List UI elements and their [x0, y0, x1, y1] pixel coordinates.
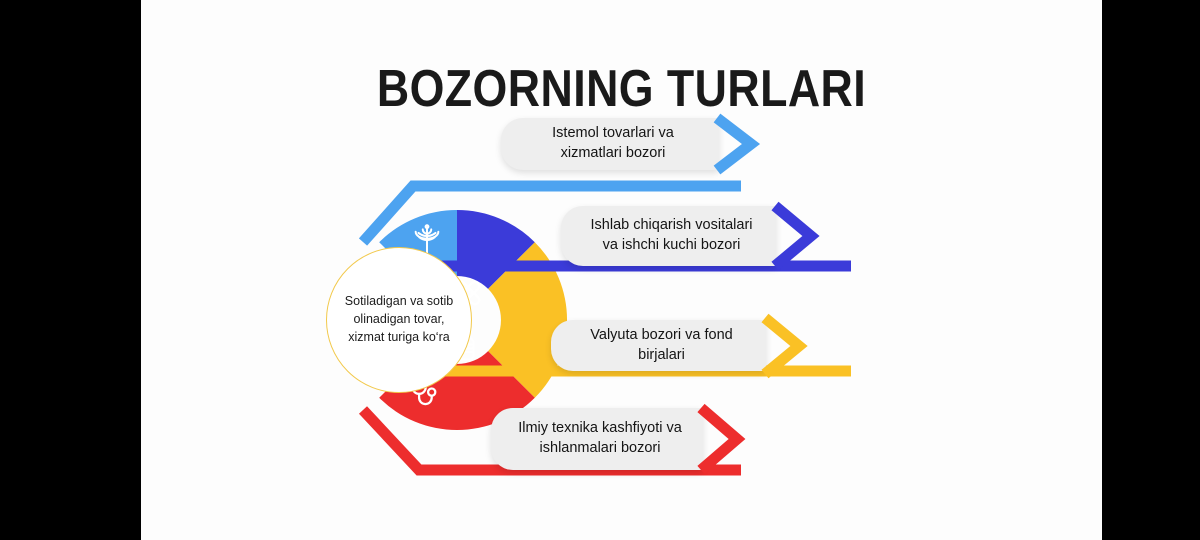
- chevron-icon-1: [711, 112, 771, 176]
- letterbox-bar-left: [0, 0, 141, 540]
- callout-label-1: Istemol tovarlari va xizmatlari bozori: [501, 124, 719, 163]
- slide-area: BOZORNING TURLARI Istemol tovarlari va x…: [141, 0, 1102, 540]
- slide-canvas: BOZORNING TURLARI Istemol tovarlari va x…: [0, 0, 1200, 540]
- callout-label-box-4[interactable]: Ilmiy texnika kashfiyoti va ishlanmalari…: [491, 408, 703, 470]
- callout-label-box-1[interactable]: Istemol tovarlari va xizmatlari bozori: [501, 118, 719, 170]
- center-text: Sotiladigan va sotib olinadigan tovar, x…: [327, 293, 471, 346]
- callout-label-box-3[interactable]: Valyuta bozori va fond birjalari: [551, 320, 766, 371]
- callout-label-3: Valyuta bozori va fond birjalari: [551, 326, 766, 365]
- chevron-icon-3: [759, 312, 817, 380]
- chevron-icon-2: [769, 200, 829, 272]
- page-title: BOZORNING TURLARI: [208, 59, 1034, 119]
- callout-label-4: Ilmiy texnika kashfiyoti va ishlanmalari…: [491, 419, 703, 458]
- letterbox-bar-right: [1102, 0, 1200, 540]
- center-circle: Sotiladigan va sotib olinadigan tovar, x…: [326, 247, 472, 393]
- chevron-icon-4: [695, 400, 755, 476]
- callout-label-box-2[interactable]: Ishlab chiqarish vositalari va ishchi ku…: [561, 206, 776, 266]
- callout-label-2: Ishlab chiqarish vositalari va ishchi ku…: [561, 216, 776, 255]
